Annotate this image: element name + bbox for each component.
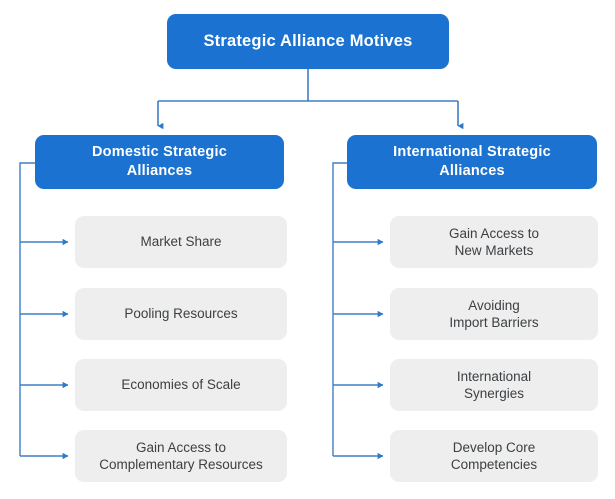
leaf-node-label: Economies of Scale: [121, 376, 240, 393]
leaf-node-label: International Synergies: [457, 368, 531, 403]
branch-node-label: Domestic Strategic Alliances: [92, 143, 227, 180]
leaf-node[interactable]: International Synergies: [390, 359, 598, 411]
root-node-label: Strategic Alliance Motives: [203, 31, 412, 52]
leaf-label-line-1: Gain Access to: [449, 226, 539, 241]
leaf-label-line-2: New Markets: [455, 243, 534, 258]
leaf-label-line-2: Synergies: [464, 386, 524, 401]
branch-label-line-2: Alliances: [439, 163, 504, 179]
left-branch-rail: [20, 163, 68, 456]
branch-node-label: International Strategic Alliances: [393, 143, 551, 180]
leaf-label-line-2: Competencies: [451, 457, 537, 472]
leaf-node-label: Market Share: [140, 233, 221, 250]
leaf-node[interactable]: Economies of Scale: [75, 359, 287, 411]
leaf-label-line-2: Import Barriers: [449, 315, 538, 330]
branch-node-domestic-strategic-alliances[interactable]: Domestic Strategic Alliances: [35, 135, 284, 189]
leaf-label-line-1: International: [457, 369, 531, 384]
strategic-alliance-motives-diagram: Strategic Alliance Motives Domestic Stra…: [0, 0, 615, 499]
leaf-node-label: Gain Access to Complementary Resources: [99, 439, 263, 474]
leaf-label-line-1: Gain Access to: [136, 440, 226, 455]
leaf-label-line-1: Avoiding: [468, 298, 520, 313]
leaf-label-line-1: Economies of Scale: [121, 377, 240, 392]
leaf-node[interactable]: Market Share: [75, 216, 287, 268]
root-node[interactable]: Strategic Alliance Motives: [167, 14, 449, 69]
leaf-label-line-1: Develop Core: [453, 440, 536, 455]
branch-label-line-1: International Strategic: [393, 144, 551, 160]
leaf-node-label: Pooling Resources: [124, 305, 237, 322]
leaf-node[interactable]: Pooling Resources: [75, 288, 287, 340]
leaf-label-line-1: Market Share: [140, 234, 221, 249]
leaf-node[interactable]: Gain Access to New Markets: [390, 216, 598, 268]
leaf-node-label: Avoiding Import Barriers: [449, 297, 538, 332]
leaf-label-line-1: Pooling Resources: [124, 306, 237, 321]
right-branch-rail: [333, 163, 383, 456]
leaf-node-label: Gain Access to New Markets: [449, 225, 539, 260]
leaf-label-line-2: Complementary Resources: [99, 457, 263, 472]
leaf-node[interactable]: Develop Core Competencies: [390, 430, 598, 482]
leaf-node[interactable]: Avoiding Import Barriers: [390, 288, 598, 340]
branch-label-line-1: Domestic Strategic: [92, 144, 227, 160]
root-trunk-connector: [158, 69, 458, 126]
branch-node-international-strategic-alliances[interactable]: International Strategic Alliances: [347, 135, 597, 189]
branch-label-line-2: Alliances: [127, 163, 192, 179]
leaf-node[interactable]: Gain Access to Complementary Resources: [75, 430, 287, 482]
leaf-node-label: Develop Core Competencies: [451, 439, 537, 474]
